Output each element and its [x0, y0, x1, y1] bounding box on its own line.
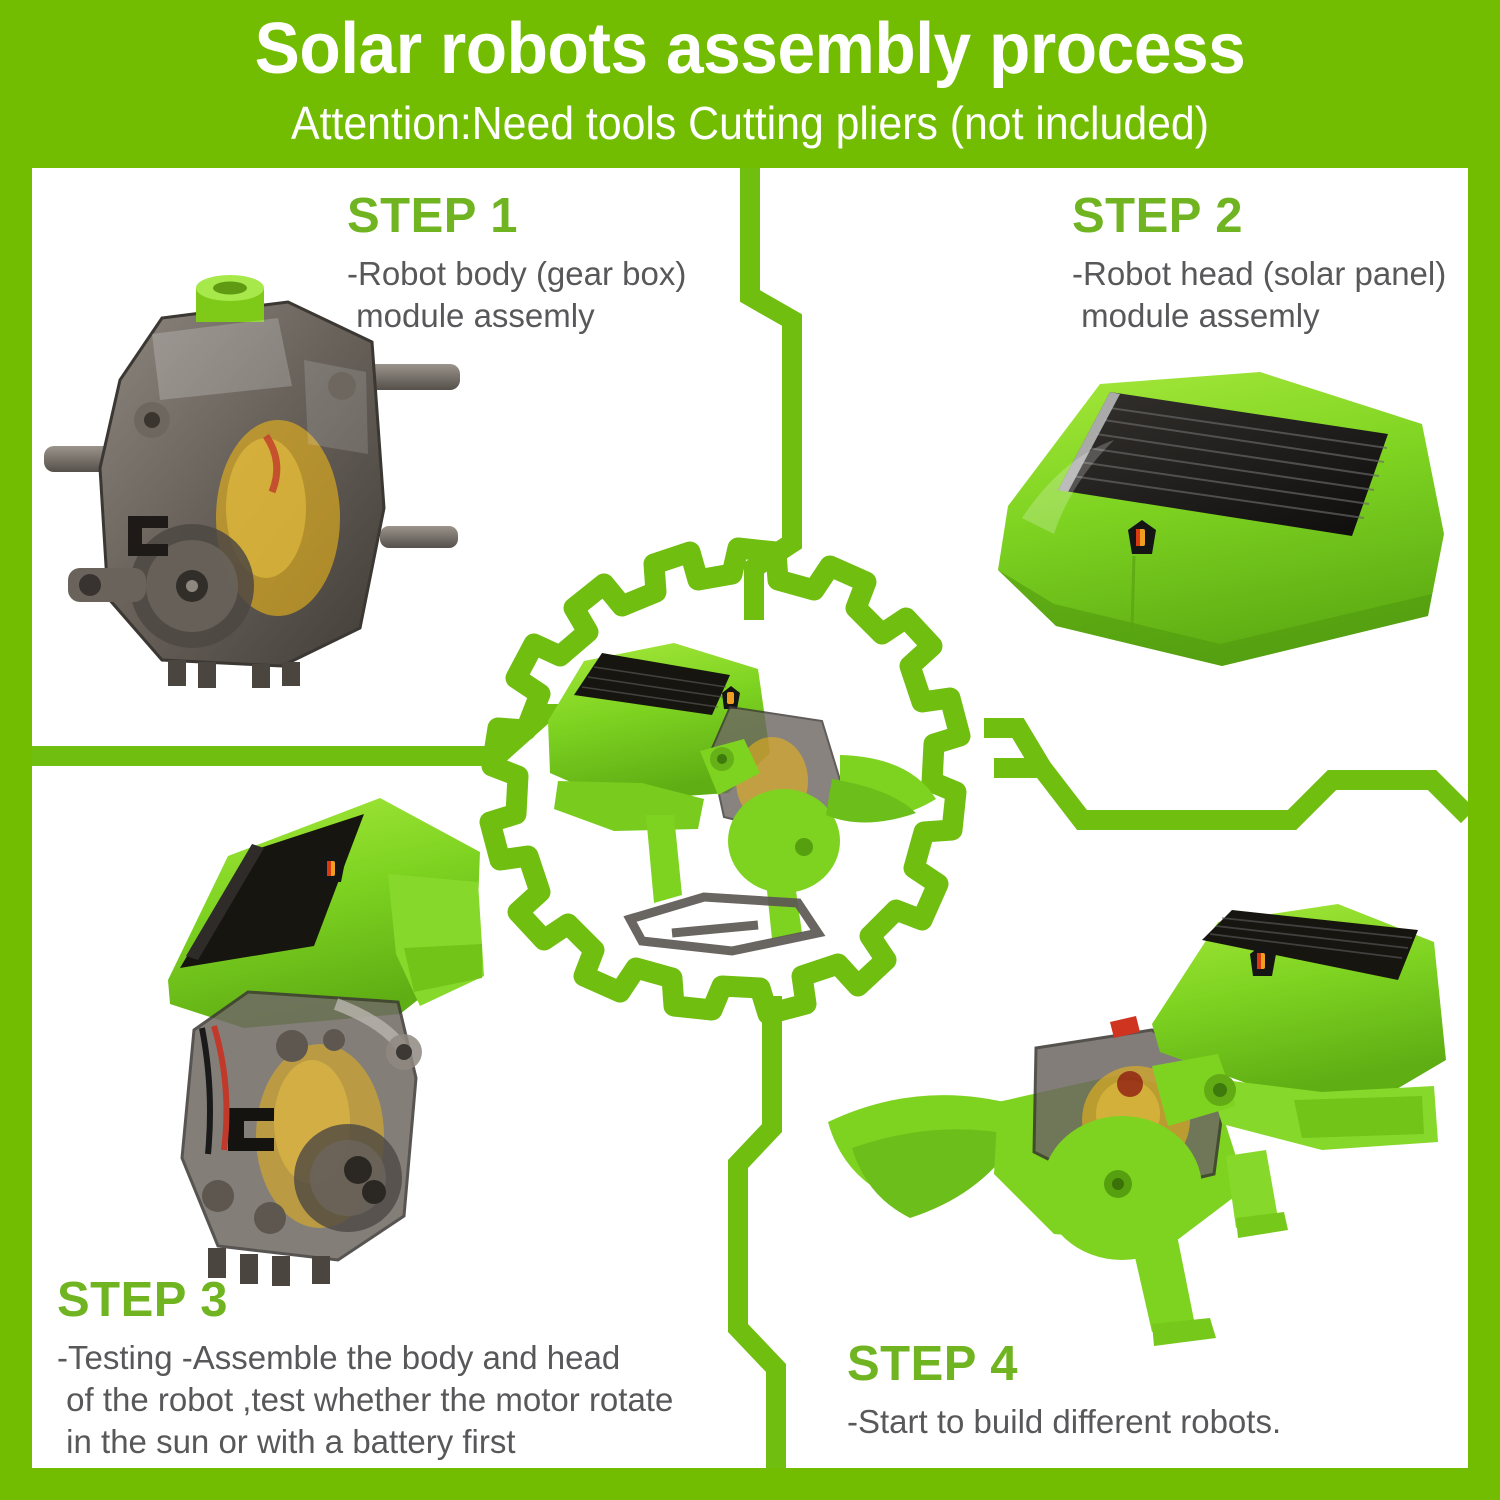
step-4-text: STEP 4 -Start to build different robots. — [847, 1340, 1281, 1443]
step-4-heading: STEP 4 — [847, 1340, 1281, 1389]
step-2-description: -Robot head (solar panel) module assemly — [1072, 253, 1446, 337]
poster-header: Solar robots assembly process Attention:… — [0, 0, 1500, 168]
attention-note: Attention:Need tools Cutting pliers (not… — [53, 96, 1448, 150]
finished-dinosaur-robot-image — [822, 888, 1462, 1348]
poster-root: Solar robots assembly process Attention:… — [0, 0, 1500, 1500]
assembled-body-and-head-image — [152, 778, 552, 1298]
divider-vertical-top — [750, 168, 792, 620]
solar-panel-head-image — [992, 358, 1462, 688]
step-2-heading: STEP 2 — [1072, 192, 1446, 241]
content-panel: STEP 1 -Robot body (gear box) module ass… — [32, 168, 1468, 1468]
gear-box-module-image — [42, 268, 472, 698]
step-1-heading: STEP 1 — [347, 192, 686, 241]
step-2-text: STEP 2 -Robot head (solar panel) module … — [1072, 192, 1446, 337]
step-3-description: -Testing -Assemble the body and head of … — [57, 1337, 673, 1464]
page-title: Solar robots assembly process — [45, 8, 1455, 90]
step-4-description: -Start to build different robots. — [847, 1401, 1281, 1443]
divider-horizontal-right-stub — [984, 728, 1042, 768]
divider-vertical-bottom — [738, 996, 776, 1468]
divider-horizontal-right — [994, 768, 1468, 820]
step-3-heading: STEP 3 — [57, 1276, 673, 1325]
step-3-text: STEP 3 -Testing -Assemble the body and h… — [57, 1276, 673, 1464]
